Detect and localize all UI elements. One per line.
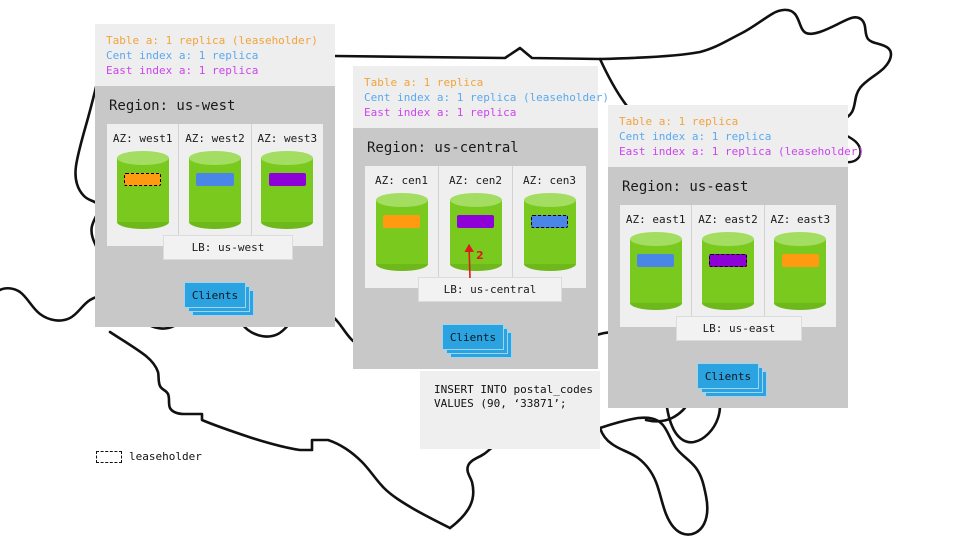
cylinder-body	[630, 239, 682, 303]
replica-line-table: Table a: 1 replica (leaseholder)	[106, 33, 324, 48]
az-cell-cen1[interactable]: AZ: cen1	[365, 166, 438, 288]
cylinder-top	[376, 193, 428, 207]
node-cylinder-cen3[interactable]	[524, 193, 576, 271]
cylinder-top	[117, 151, 169, 165]
az-cell-west1[interactable]: AZ: west1	[107, 124, 178, 246]
replica-line-table: Table a: 1 replica	[364, 75, 587, 90]
az-container-us-east: AZ: east1 AZ: east2 AZ: east3	[620, 205, 836, 327]
node-cylinder-west2[interactable]	[189, 151, 241, 229]
az-cell-west3[interactable]: AZ: west3	[251, 124, 323, 246]
region-panel-us-west: Table a: 1 replica (leaseholder) Cent in…	[95, 24, 335, 327]
region-title-us-central: Region: us-central	[353, 128, 598, 166]
replica-band	[782, 254, 819, 267]
cylinder-top	[261, 151, 313, 165]
cylinder-body	[524, 200, 576, 264]
legend-leaseholder: leaseholder	[96, 450, 202, 463]
legend-label: leaseholder	[129, 450, 202, 463]
replica-band-leaseholder	[709, 254, 746, 267]
az-label-west3: AZ: west3	[252, 132, 323, 145]
node-cylinder-west3[interactable]	[261, 151, 313, 229]
az-cell-east1[interactable]: AZ: east1	[620, 205, 691, 327]
az-container-us-central: AZ: cen1 AZ: cen2 AZ: cen3	[365, 166, 586, 288]
replica-line-table: Table a: 1 replica	[619, 114, 837, 129]
replica-line-east: East index a: 1 replica	[364, 105, 587, 120]
region-title-us-east: Region: us-east	[608, 167, 848, 205]
az-label-cen3: AZ: cen3	[513, 174, 586, 187]
cylinder-body	[702, 239, 754, 303]
replica-band	[637, 254, 674, 267]
node-cylinder-east3[interactable]	[774, 232, 826, 310]
replica-band-leaseholder	[531, 215, 568, 228]
az-cell-cen3[interactable]: AZ: cen3	[512, 166, 586, 288]
replica-line-cent: Cent index a: 1 replica (leaseholder)	[364, 90, 587, 105]
sql-statement-box: INSERT INTO postal_codes VALUES (90, ‘33…	[420, 371, 600, 449]
node-cylinder-west1[interactable]	[117, 151, 169, 229]
cylinder-top	[630, 232, 682, 246]
region-panel-us-east: Table a: 1 replica Cent index a: 1 repli…	[608, 105, 848, 408]
node-cylinder-east1[interactable]	[630, 232, 682, 310]
region-body-us-west: Region: us-west AZ: west1 AZ: west2	[95, 86, 335, 327]
cylinder-top	[524, 193, 576, 207]
clients-label: Clients	[442, 324, 504, 350]
az-label-east3: AZ: east3	[765, 213, 836, 226]
clients-label: Clients	[697, 363, 759, 389]
load-balancer-us-west[interactable]: LB: us-west	[163, 235, 293, 260]
flow-arrow-label-2: 2	[476, 249, 484, 262]
az-cell-east2[interactable]: AZ: east2	[691, 205, 763, 327]
clients-stack-us-east[interactable]: Clients	[697, 363, 759, 393]
clients-label: Clients	[184, 282, 246, 308]
cylinder-top	[774, 232, 826, 246]
clients-stack-us-central[interactable]: Clients	[442, 324, 504, 354]
az-container-us-west: AZ: west1 AZ: west2 AZ: west3	[107, 124, 323, 246]
region-body-us-east: Region: us-east AZ: east1 AZ: east2	[608, 167, 848, 408]
az-label-west1: AZ: west1	[107, 132, 178, 145]
replica-line-east: East index a: 1 replica	[106, 63, 324, 78]
node-cylinder-east2[interactable]	[702, 232, 754, 310]
cylinder-body	[117, 158, 169, 222]
dashed-rectangle-icon	[96, 451, 122, 463]
cylinder-body	[774, 239, 826, 303]
az-label-west2: AZ: west2	[179, 132, 250, 145]
replica-band	[196, 173, 233, 186]
replica-summary-us-central: Table a: 1 replica Cent index a: 1 repli…	[353, 66, 598, 128]
replica-band	[457, 215, 494, 228]
cylinder-body	[189, 158, 241, 222]
replica-line-east: East index a: 1 replica (leaseholder)	[619, 144, 837, 159]
cylinder-body	[261, 158, 313, 222]
cylinder-top	[702, 232, 754, 246]
az-label-east1: AZ: east1	[620, 213, 691, 226]
load-balancer-us-central[interactable]: LB: us-central	[418, 277, 562, 302]
replica-summary-us-west: Table a: 1 replica (leaseholder) Cent in…	[95, 24, 335, 86]
replica-band-leaseholder	[124, 173, 161, 186]
replica-band	[383, 215, 420, 228]
region-title-us-west: Region: us-west	[95, 86, 335, 124]
replica-line-cent: Cent index a: 1 replica	[619, 129, 837, 144]
clients-stack-us-west[interactable]: Clients	[184, 282, 246, 312]
replica-summary-us-east: Table a: 1 replica Cent index a: 1 repli…	[608, 105, 848, 167]
region-panel-us-central: Table a: 1 replica Cent index a: 1 repli…	[353, 66, 598, 369]
cylinder-top	[450, 193, 502, 207]
cylinder-top	[189, 151, 241, 165]
replica-band	[269, 173, 306, 186]
replica-line-cent: Cent index a: 1 replica	[106, 48, 324, 63]
us-map-florida	[600, 418, 707, 535]
az-label-east2: AZ: east2	[692, 213, 763, 226]
cylinder-body	[376, 200, 428, 264]
az-label-cen2: AZ: cen2	[439, 174, 512, 187]
az-cell-cen2[interactable]: AZ: cen2	[438, 166, 512, 288]
node-cylinder-cen1[interactable]	[376, 193, 428, 271]
az-cell-east3[interactable]: AZ: east3	[764, 205, 836, 327]
az-label-cen1: AZ: cen1	[365, 174, 438, 187]
az-cell-west2[interactable]: AZ: west2	[178, 124, 250, 246]
load-balancer-us-east[interactable]: LB: us-east	[676, 316, 802, 341]
